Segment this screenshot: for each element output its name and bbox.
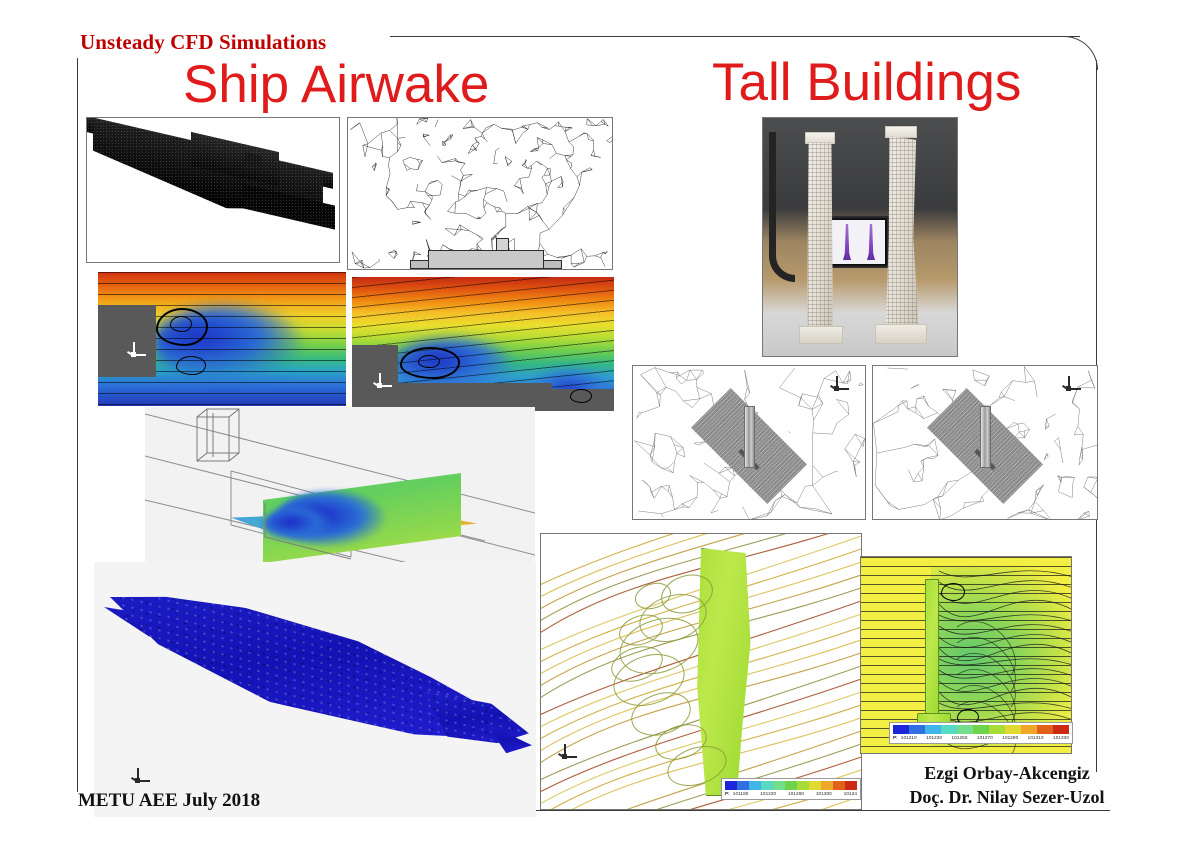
- colorbar-tick-value: 101220: [760, 791, 776, 796]
- frame-corner-arc: [1064, 36, 1098, 70]
- colorbar-swatch: [1053, 725, 1069, 734]
- ship-mast-section: [496, 238, 509, 251]
- colorbar-pressure-wake: P: 1012101012301012501012701012901013101…: [889, 722, 1073, 744]
- triangular-mesh-svg: [348, 118, 613, 270]
- frame-top-line: [390, 36, 1080, 37]
- figure-building-mesh-view-1: [632, 365, 866, 520]
- wake-swirl-path: [607, 641, 666, 688]
- colorbar-tick-value: 101210: [901, 735, 917, 740]
- colorbar-swatch: [821, 781, 833, 790]
- streamline-wake-swirls-svg: [541, 534, 862, 810]
- section-title-ship-airwake: Ship Airwake: [183, 58, 489, 111]
- wake-streamline-path: [939, 615, 1072, 621]
- colorbar-tick-value: 101270: [977, 735, 993, 740]
- axis-triad-icon: [557, 744, 579, 766]
- colorbar-tick-value: 101180: [733, 791, 749, 796]
- colorbar-tick-value: 101260: [788, 791, 804, 796]
- vortex-core-contour: [170, 316, 192, 332]
- slide-canvas: Unsteady CFD Simulations Ship Airwake Ta…: [0, 0, 1200, 848]
- colorbar-swatch: [1021, 725, 1037, 734]
- colorbar-ticks: P: 10118010122010126010130010134: [725, 791, 857, 796]
- figure-pressure-streamlines: [540, 533, 862, 810]
- colorbar-swatch: [909, 725, 925, 734]
- colorbar-label: P:: [725, 791, 730, 796]
- figure-ship-surface-mesh: [86, 117, 340, 263]
- axis-triad-icon: [126, 342, 148, 364]
- figure-3d-domain-slices: [145, 407, 535, 579]
- footer-venue-date: METU AEE July 2018: [78, 790, 260, 812]
- wake-swirl-path: [657, 569, 718, 619]
- photo-monitor: [827, 216, 889, 268]
- slide-kicker: Unsteady CFD Simulations: [80, 30, 326, 55]
- colorbar-swatch: [973, 725, 989, 734]
- ship-body-silhouette: [98, 305, 156, 377]
- colorbar-tick-value: 101310: [1028, 735, 1044, 740]
- colorbar-swatch: [773, 781, 785, 790]
- colorbar-swatch: [893, 725, 909, 734]
- footer-authors: Ezgi Orbay-Akcengiz Doç. Dr. Nilay Sezer…: [862, 761, 1152, 810]
- colorbar-swatch: [737, 781, 749, 790]
- colorbar-swatch: [749, 781, 761, 790]
- left-building-model: [807, 142, 833, 330]
- figure-building-models-photo: [762, 117, 958, 357]
- colorbar-values: 1012101012301012501012701012901013101013…: [901, 735, 1069, 740]
- wake-recirculation-path: [957, 653, 1015, 707]
- monitor-render-tower-left: [843, 224, 851, 260]
- top-vortex-contour: [941, 583, 965, 601]
- axis-triad-icon: [372, 373, 394, 395]
- monitor-render-tower-right: [867, 224, 875, 260]
- photo-pipe-fixture: [769, 132, 795, 282]
- colorbar-swatch: [941, 725, 957, 734]
- wake-swirl-path: [626, 686, 695, 743]
- axis-triad-icon: [130, 768, 152, 790]
- building-tower-geometry: [980, 406, 991, 468]
- colorbar-tick-value: 101290: [1002, 735, 1018, 740]
- colorbar-swatch: [957, 725, 973, 734]
- monitor-screen: [831, 220, 885, 264]
- right-model-base: [875, 324, 927, 344]
- vortex-core-contour: [418, 355, 440, 368]
- wake-streamline-path: [939, 659, 1072, 665]
- colorbar-tick-value: 101300: [816, 791, 832, 796]
- axis-triad-icon: [1061, 376, 1083, 398]
- secondary-vortex-contour: [176, 356, 206, 375]
- mesh-edges: [350, 118, 613, 268]
- colorbar-swatch: [1005, 725, 1021, 734]
- colorbar-tick-value: 10134: [844, 791, 857, 796]
- building-tower-geometry: [744, 406, 755, 468]
- colorbar-swatch: [845, 781, 857, 790]
- surface-mesh-speckle: [87, 118, 339, 262]
- wake-streamline-path: [939, 571, 1072, 577]
- axis-triad-icon: [829, 376, 851, 398]
- ship-hull-upper-section: [428, 250, 544, 269]
- building-section-surface: [925, 579, 939, 731]
- section-title-tall-buildings: Tall Buildings: [712, 56, 1021, 109]
- aft-vortex-contour: [570, 389, 592, 403]
- colorbar-swatch: [1037, 725, 1053, 734]
- wake-swirl-path: [607, 646, 690, 714]
- figure-ship-volume-mesh: [347, 117, 613, 270]
- wake-streamline-path: [939, 634, 1072, 647]
- wake-swirl-path: [651, 719, 710, 766]
- colorbar-swatches: [893, 725, 1069, 734]
- colorbar-ticks: P: 1012101012301012501012701012901013101…: [893, 735, 1069, 740]
- colorbar-tick-value: 101250: [952, 735, 968, 740]
- colorbar-swatches: [725, 781, 857, 790]
- wake-swirl-path: [613, 609, 705, 683]
- author-name-1: Ezgi Orbay-Akcengiz: [862, 761, 1152, 785]
- wake-recirculation-path: [957, 621, 1015, 675]
- domain-foreground-wire-svg: [145, 407, 535, 579]
- figure-velocity-contour-deck: [98, 272, 346, 406]
- colorbar-pressure-streamlines: P: 10118010122010126010130010134: [721, 778, 861, 800]
- colorbar-swatch: [725, 781, 737, 790]
- colorbar-swatch: [989, 725, 1005, 734]
- figure-building-mesh-view-2: [872, 365, 1098, 520]
- colorbar-swatch: [761, 781, 773, 790]
- colorbar-tick-value: 101230: [926, 735, 942, 740]
- author-name-2: Doç. Dr. Nilay Sezer-Uzol: [862, 785, 1152, 809]
- wake-recirculation-path: [957, 637, 1015, 691]
- colorbar-swatch: [797, 781, 809, 790]
- figure-velocity-contour-superstructure: [352, 277, 614, 411]
- colorbar-label: P:: [893, 735, 898, 740]
- colorbar-tick-value: 101330: [1053, 735, 1069, 740]
- colorbar-swatch: [785, 781, 797, 790]
- left-model-base: [799, 326, 843, 344]
- frame-left-line: [77, 58, 78, 792]
- colorbar-swatch: [809, 781, 821, 790]
- figure-q-criterion-isosurface: [94, 562, 536, 817]
- colorbar-values: 10118010122010126010130010134: [733, 791, 857, 796]
- colorbar-swatch: [833, 781, 845, 790]
- colorbar-swatch: [925, 725, 941, 734]
- wake-swirl-path: [632, 579, 674, 613]
